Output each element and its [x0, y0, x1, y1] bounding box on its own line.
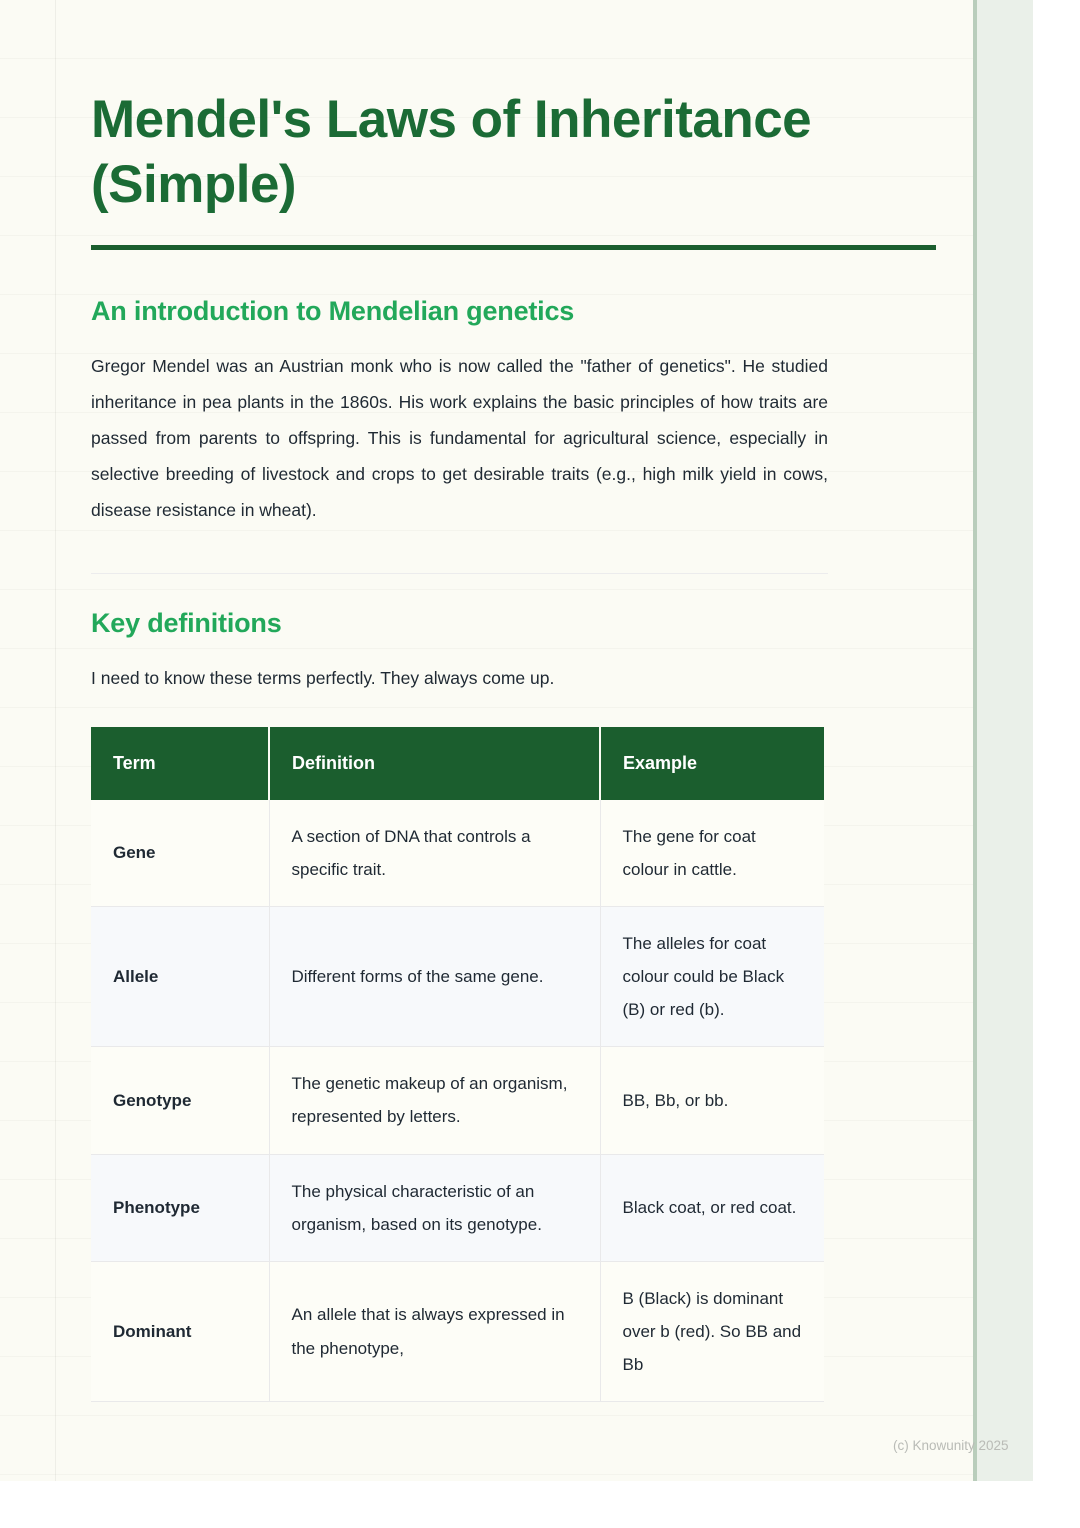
table-cell-term: Phenotype [91, 1154, 269, 1261]
notebook-margin-rule [55, 0, 56, 1481]
table-cell-term: Allele [91, 906, 269, 1046]
table-cell-term: Dominant [91, 1261, 269, 1401]
table-header-example: Example [600, 727, 824, 800]
section-paragraph-key-definitions: I need to know these terms perfectly. Th… [91, 639, 828, 697]
document-page: Mendel's Laws of Inheritance (Simple) An… [0, 0, 1080, 1528]
table-row: Gene A section of DNA that controls a sp… [91, 800, 824, 907]
key-definitions-table: Term Definition Example Gene A section o… [91, 727, 824, 1403]
table-row: Dominant An allele that is always expres… [91, 1261, 824, 1401]
table-header-definition: Definition [269, 727, 600, 800]
table-cell-term: Gene [91, 800, 269, 907]
table-cell-definition: The physical characteristic of an organi… [269, 1154, 600, 1261]
table-row: Phenotype The physical characteristic of… [91, 1154, 824, 1261]
table-cell-definition: The genetic makeup of an organism, repre… [269, 1047, 600, 1154]
table-header-term: Term [91, 727, 269, 800]
right-green-band [973, 0, 1033, 1481]
table-cell-example: The alleles for coat colour could be Bla… [600, 906, 824, 1046]
table-cell-term: Genotype [91, 1047, 269, 1154]
table-cell-example: BB, Bb, or bb. [600, 1047, 824, 1154]
copyright-watermark: (c) Knowunity 2025 [893, 1438, 1009, 1453]
right-green-band-edge [973, 0, 977, 1481]
section-paragraph-introduction: Gregor Mendel was an Austrian monk who i… [91, 327, 828, 528]
table-row: Genotype The genetic makeup of an organi… [91, 1047, 824, 1154]
table-cell-definition: A section of DNA that controls a specifi… [269, 800, 600, 907]
content-column: Mendel's Laws of Inheritance (Simple) An… [91, 0, 936, 1402]
page-title: Mendel's Laws of Inheritance (Simple) [91, 0, 936, 217]
table-cell-example: B (Black) is dominant over b (red). So B… [600, 1261, 824, 1401]
table-row: Allele Different forms of the same gene.… [91, 906, 824, 1046]
table-cell-definition: An allele that is always expressed in th… [269, 1261, 600, 1401]
table-cell-example: The gene for coat colour in cattle. [600, 800, 824, 907]
section-heading-introduction: An introduction to Mendelian genetics [91, 250, 936, 327]
table-cell-definition: Different forms of the same gene. [269, 906, 600, 1046]
table-cell-example: Black coat, or red coat. [600, 1154, 824, 1261]
paper-sheet: Mendel's Laws of Inheritance (Simple) An… [0, 0, 1033, 1481]
table-header-row: Term Definition Example [91, 727, 824, 800]
section-heading-key-definitions: Key definitions [91, 574, 936, 639]
